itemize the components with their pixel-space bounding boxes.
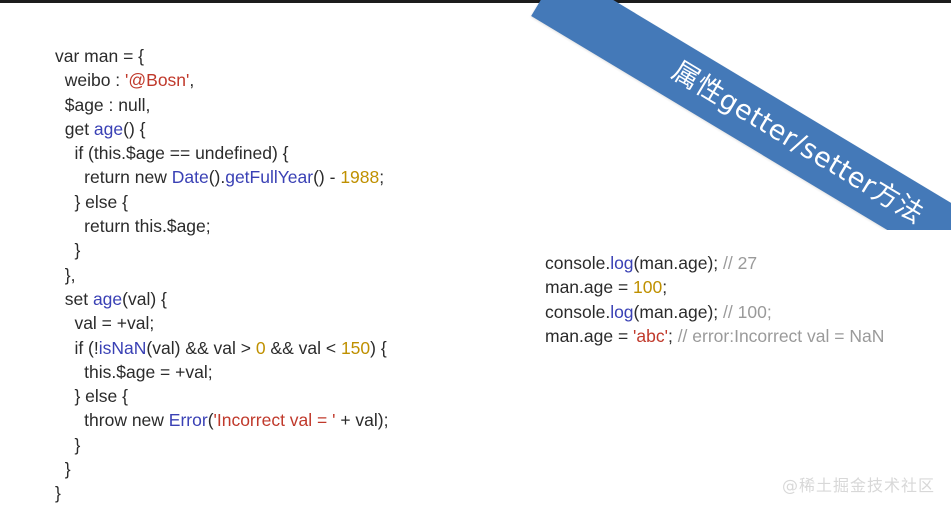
code-token-plain: (val) { (122, 289, 167, 309)
code-line: val = +val; (55, 311, 388, 335)
code-token-plain: weibo : (55, 70, 125, 90)
code-token-plain: return this.$age; (55, 216, 211, 236)
code-token-comment: // error:Incorrect val = NaN (678, 326, 885, 346)
code-token-plain: return new (55, 167, 172, 187)
code-token-plain: ; (662, 277, 667, 297)
code-token-plain: && val < (266, 338, 341, 358)
code-token-plain: $age : null, (55, 95, 150, 115)
code-block-console-usage: console.log(man.age); // 27man.age = 100… (545, 251, 884, 348)
code-token-plain: console. (545, 253, 610, 273)
code-token-plain: if (! (55, 338, 99, 358)
slide-canvas: 属性getter/setter方法 var man = { weibo : '@… (0, 0, 951, 510)
code-line: this.$age = +val; (55, 360, 388, 384)
code-token-plain: ; (668, 326, 678, 346)
code-line: man.age = 'abc'; // error:Incorrect val … (545, 324, 884, 348)
watermark-label: @稀土掘金技术社区 (782, 472, 935, 496)
code-token-string: 'abc' (633, 326, 668, 346)
code-token-plain: } (55, 435, 80, 455)
code-line: } else { (55, 384, 388, 408)
code-token-plain: } else { (55, 192, 128, 212)
code-token-plain: }, (55, 265, 75, 285)
code-token-comment: // 27 (723, 253, 757, 273)
code-token-number: 100 (633, 277, 662, 297)
code-line: set age(val) { (55, 287, 388, 311)
code-line: } (55, 457, 388, 481)
code-line: if (!isNaN(val) && val > 0 && val < 150)… (55, 336, 388, 360)
code-token-plain: if (this.$age == undefined) { (55, 143, 289, 163)
code-token-plain: get (55, 119, 94, 139)
code-token-number: 150 (341, 338, 370, 358)
code-token-plain: (). (209, 167, 226, 187)
code-line: get age() { (55, 117, 388, 141)
code-token-plain: man.age = (545, 326, 633, 346)
code-token-identifier: getFullYear (225, 167, 313, 187)
code-token-identifier: Date (172, 167, 209, 187)
code-token-identifier: age (94, 119, 123, 139)
code-line: return this.$age; (55, 214, 388, 238)
code-token-plain: (man.age); (634, 302, 723, 322)
code-token-plain: (man.age); (634, 253, 723, 273)
code-token-number: 0 (256, 338, 266, 358)
code-token-plain: val = +val; (55, 313, 154, 333)
code-line: } (55, 481, 388, 505)
code-line: }, (55, 263, 388, 287)
code-token-identifier: isNaN (99, 338, 147, 358)
code-token-comment: // 100; (723, 302, 772, 322)
code-line: return new Date().getFullYear() - 1988; (55, 165, 388, 189)
code-token-plain: var man = { (55, 46, 144, 66)
code-line: console.log(man.age); // 100; (545, 300, 884, 324)
ribbon-label: 属性getter/setter方法 (660, 45, 936, 230)
code-line: man.age = 100; (545, 275, 884, 299)
code-token-plain: } (55, 459, 71, 479)
code-line: console.log(man.age); // 27 (545, 251, 884, 275)
code-token-plain: set (55, 289, 93, 309)
code-token-plain: this.$age = +val; (55, 362, 213, 382)
code-line: weibo : '@Bosn', (55, 68, 388, 92)
code-token-identifier: log (610, 253, 633, 273)
code-token-plain: () - (313, 167, 340, 187)
top-edge-strip (0, 0, 951, 3)
code-token-identifier: log (610, 302, 633, 322)
code-line: } else { (55, 190, 388, 214)
ribbon-band: 属性getter/setter方法 (531, 0, 951, 230)
code-token-plain: + val); (335, 410, 388, 430)
code-token-plain: ) { (370, 338, 387, 358)
code-token-plain: man.age = (545, 277, 633, 297)
code-token-plain: } (55, 240, 80, 260)
code-token-plain: , (189, 70, 194, 90)
code-line: throw new Error('Incorrect val = ' + val… (55, 408, 388, 432)
code-token-plain: () { (123, 119, 145, 139)
code-line: var man = { (55, 44, 388, 68)
code-token-number: 1988 (340, 167, 379, 187)
code-token-plain: } else { (55, 386, 128, 406)
code-token-plain: console. (545, 302, 610, 322)
code-line: $age : null, (55, 93, 388, 117)
code-line: } (55, 433, 388, 457)
code-token-string: '@Bosn' (125, 70, 189, 90)
code-token-plain: throw new (55, 410, 169, 430)
code-token-plain: } (55, 483, 61, 503)
code-token-plain: ; (379, 167, 384, 187)
code-token-identifier: Error (169, 410, 208, 430)
code-token-identifier: age (93, 289, 122, 309)
code-token-plain: (val) && val > (146, 338, 255, 358)
code-block-object-definition: var man = { weibo : '@Bosn', $age : null… (55, 44, 388, 506)
code-line: } (55, 238, 388, 262)
code-line: if (this.$age == undefined) { (55, 141, 388, 165)
code-token-string: 'Incorrect val = ' (214, 410, 336, 430)
